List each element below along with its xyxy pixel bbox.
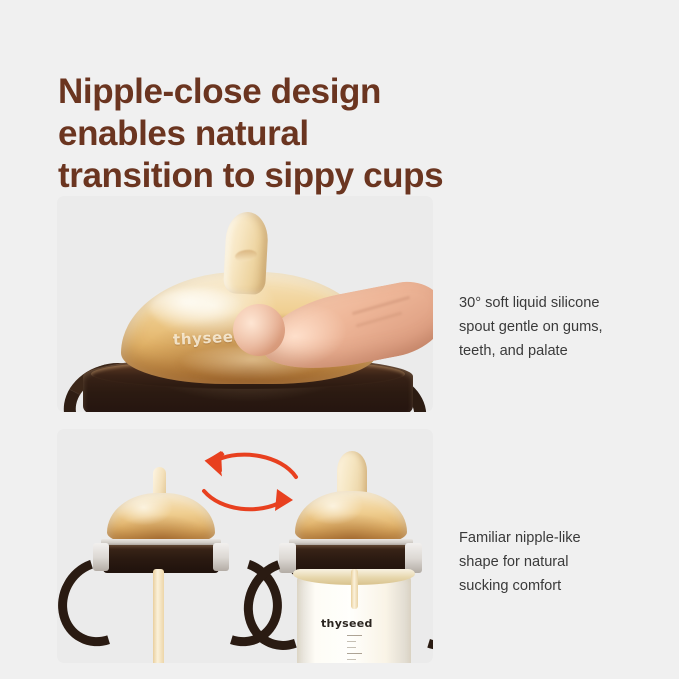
- bottle-measurement-scale: [347, 635, 369, 663]
- nipple-spout-assembly: thyseed: [259, 449, 433, 661]
- spout-vs-nipple-photo: thyseed: [57, 429, 433, 663]
- bottle-brand-mark: thyseed: [321, 617, 373, 630]
- caption-nipple: Familiar nipple-like shape for natural s…: [459, 526, 659, 598]
- product-feature-page: Nipple-close design enables natural tran…: [0, 0, 679, 679]
- nipple-spout-dome: [295, 491, 407, 545]
- page-title: Nipple-close design enables natural tran…: [58, 71, 528, 197]
- straw-tube: [153, 569, 164, 663]
- spout-comparison-illustration: thyseed: [57, 429, 433, 663]
- spout-press-illustration: thyseed: [57, 196, 433, 412]
- dome-highlight: [149, 288, 245, 328]
- caption-spout: 30° soft liquid silicone spout gentle on…: [459, 291, 659, 363]
- spout-press-photo: thyseed: [57, 196, 433, 412]
- bottle-internal-straw: [351, 569, 358, 609]
